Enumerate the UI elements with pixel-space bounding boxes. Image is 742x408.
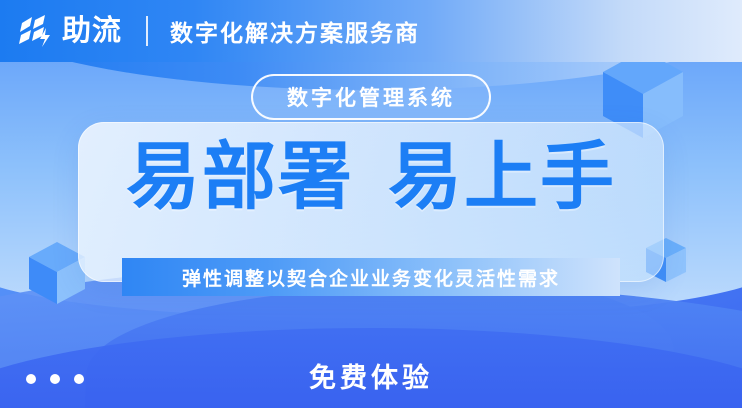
site-header: 助流 数字化解决方案服务商: [0, 0, 742, 62]
page-title: 易部署易上手: [0, 140, 742, 214]
headline-part-2: 易上手: [388, 135, 616, 218]
carousel-dot-2[interactable]: [50, 374, 60, 384]
lightning-bolt-logo-icon: [18, 13, 54, 49]
carousel-dot-3[interactable]: [74, 374, 84, 384]
headline-part-1: 易部署: [126, 135, 354, 218]
carousel-indicators[interactable]: [26, 374, 84, 384]
brand-block[interactable]: 助流: [0, 13, 122, 49]
promo-banner: 助流 数字化解决方案服务商 数字化管理系统 易部署易上手 弹性调整以契合企业业务…: [0, 0, 742, 408]
hero-subtitle: 弹性调整以契合企业业务变化灵活性需求: [122, 258, 620, 296]
system-badge: 数字化管理系统: [251, 74, 491, 120]
free-trial-cta[interactable]: 免费体验: [0, 356, 742, 395]
logo-wordmark: 助流: [62, 17, 122, 46]
header-tagline: 数字化解决方案服务商: [170, 14, 420, 48]
carousel-dot-1[interactable]: [26, 374, 36, 384]
header-divider: [146, 16, 148, 46]
